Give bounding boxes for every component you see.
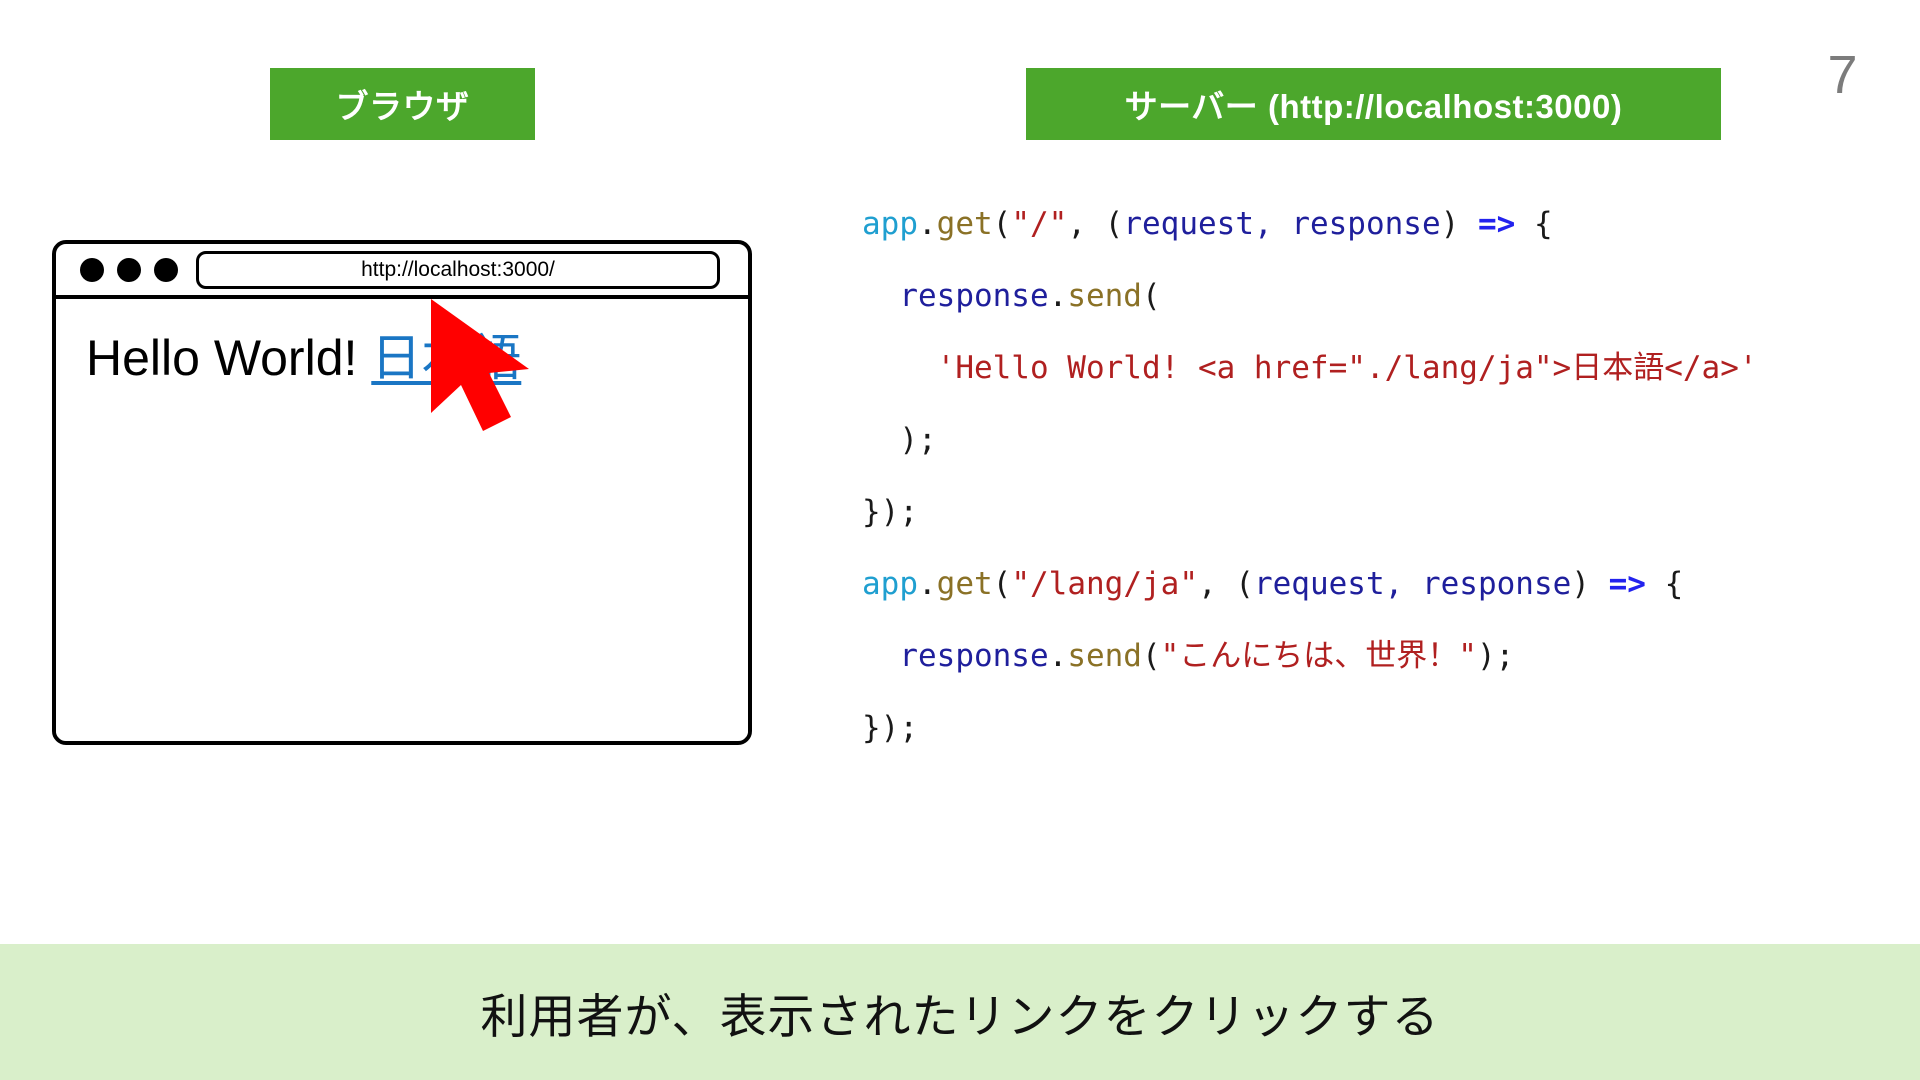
code-token: request, response [1123,206,1440,242]
banner-server-label: サーバー (http://localhost:3000) [1125,80,1623,128]
traffic-light-dot-icon[interactable] [154,258,178,282]
code-token: , ( [1198,566,1254,602]
code-token: , ( [1067,206,1123,242]
code-token: request, response [1254,566,1571,602]
banner-browser-label: ブラウザ [336,80,470,128]
code-indent [862,422,899,458]
server-code-block: app.get("/", (request, response) => { re… [862,188,1882,764]
code-token: get [937,206,993,242]
code-token: ) [1571,566,1608,602]
page-number: 7 [1827,48,1858,102]
code-token: app [862,206,918,242]
code-token: ); [1477,638,1514,674]
code-token: { [1646,566,1683,602]
code-token: "/" [1011,206,1067,242]
code-token: ); [899,422,936,458]
code-token: 'Hello World! <a href="./lang/ja">日本語</a… [937,350,1758,386]
code-indent [862,638,899,674]
code-token: get [937,566,993,602]
code-line: app.get("/lang/ja", (request, response) … [862,548,1882,620]
caption-text: 利用者が、表示されたリンクをクリックする [480,978,1439,1047]
banner-server: サーバー (http://localhost:3000) [1026,68,1721,140]
code-token: app [862,566,918,602]
code-token: ( [1142,638,1161,674]
code-token: { [1515,206,1552,242]
code-line: }); [862,476,1882,548]
browser-chrome: http://localhost:3000/ [56,244,748,299]
code-token: ) [1441,206,1478,242]
code-token: . [918,566,937,602]
traffic-lights [80,258,178,282]
page-link-japanese[interactable]: 日本語 [371,330,521,386]
code-token: "/lang/ja" [1011,566,1198,602]
code-token: => [1478,206,1515,242]
code-token: . [1049,638,1068,674]
code-token: send [1067,278,1142,314]
code-token: }); [862,710,918,746]
code-line: app.get("/", (request, response) => { [862,188,1882,260]
slide-root: 7 ブラウザ サーバー (http://localhost:3000) http… [0,0,1920,1080]
code-token: ( [993,566,1012,602]
banner-browser: ブラウザ [270,68,535,140]
code-line: response.send( [862,260,1882,332]
code-token: send [1067,638,1142,674]
code-line: }); [862,692,1882,764]
code-token: ( [1142,278,1161,314]
code-line: 'Hello World! <a href="./lang/ja">日本語</a… [862,332,1882,404]
code-token: => [1609,566,1646,602]
code-line: ); [862,404,1882,476]
page-text-prefix: Hello World! [86,330,371,386]
rendered-page-text: Hello World! 日本語 [86,327,718,390]
code-indent [862,278,899,314]
browser-window-mockup: http://localhost:3000/ Hello World! 日本語 [52,240,752,745]
code-indent [862,350,937,386]
browser-viewport: Hello World! 日本語 [56,299,748,737]
code-token: response [899,278,1048,314]
code-token: ( [993,206,1012,242]
address-bar-value: http://localhost:3000/ [361,258,555,282]
code-token: }); [862,494,918,530]
code-token: . [918,206,937,242]
code-token: . [1049,278,1068,314]
caption-band: 利用者が、表示されたリンクをクリックする [0,944,1920,1080]
traffic-light-dot-icon[interactable] [117,258,141,282]
code-token: response [899,638,1048,674]
code-line: response.send("こんにちは、世界！"); [862,620,1882,692]
address-bar[interactable]: http://localhost:3000/ [196,251,720,289]
code-token: "こんにちは、世界！" [1161,638,1477,674]
traffic-light-dot-icon[interactable] [80,258,104,282]
